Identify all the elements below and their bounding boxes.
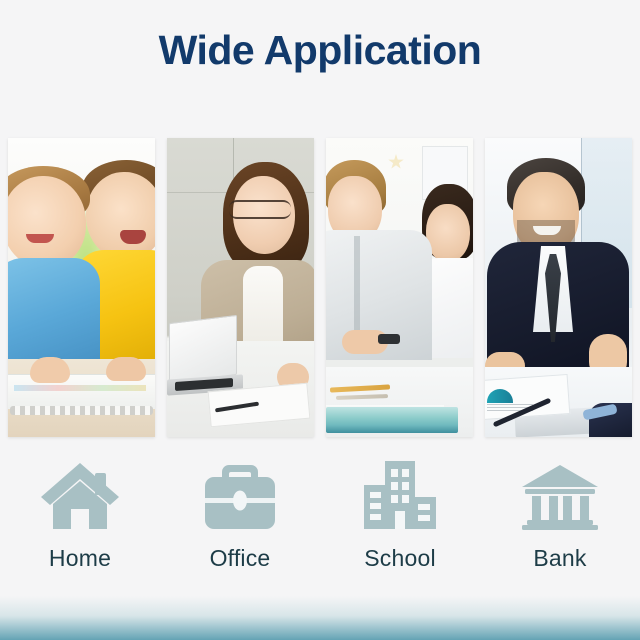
category-school[interactable]: School bbox=[320, 455, 480, 572]
child-one-hand bbox=[30, 357, 70, 383]
bank-icon bbox=[519, 455, 601, 531]
photo-panel-office bbox=[167, 138, 314, 437]
category-home[interactable]: Home bbox=[0, 455, 160, 572]
category-label-office: Office bbox=[210, 545, 271, 572]
category-label-bank: Bank bbox=[533, 545, 586, 572]
photo-panel-home bbox=[8, 138, 155, 437]
laptop-screen bbox=[169, 315, 237, 383]
stack-of-books bbox=[326, 407, 458, 433]
bottom-gradient-band bbox=[0, 596, 640, 640]
house-icon bbox=[39, 455, 121, 531]
child-two-mouth bbox=[120, 230, 146, 244]
photo-panel-school bbox=[326, 138, 473, 437]
wristwatch bbox=[378, 334, 400, 344]
briefcase-icon bbox=[199, 455, 281, 531]
application-category-row: Home Office bbox=[0, 455, 640, 572]
page-title-container: Wide Application bbox=[0, 28, 640, 73]
photo-home-children-reading bbox=[8, 138, 155, 437]
student-face bbox=[426, 204, 470, 262]
photo-school-teacher-student bbox=[326, 138, 473, 437]
buildings-icon bbox=[359, 455, 441, 531]
wide-application-banner: Wide Application bbox=[0, 0, 640, 640]
category-office[interactable]: Office bbox=[160, 455, 320, 572]
eyeglasses bbox=[229, 200, 291, 219]
child-one-face bbox=[8, 176, 86, 268]
photo-office-woman-laptop bbox=[167, 138, 314, 437]
category-bank[interactable]: Bank bbox=[480, 455, 640, 572]
book-illustration bbox=[14, 385, 146, 391]
child-two-hand bbox=[106, 357, 146, 381]
notebook-spiral-binding bbox=[10, 406, 153, 415]
photo-bank-businessman-meeting bbox=[485, 138, 632, 437]
application-photo-strip bbox=[8, 138, 632, 437]
page-title: Wide Application bbox=[0, 28, 640, 73]
photo-panel-bank bbox=[485, 138, 632, 437]
child-one-blue-shirt bbox=[8, 258, 100, 364]
child-two-face bbox=[86, 172, 155, 260]
category-label-school: School bbox=[364, 545, 436, 572]
category-label-home: Home bbox=[49, 545, 111, 572]
